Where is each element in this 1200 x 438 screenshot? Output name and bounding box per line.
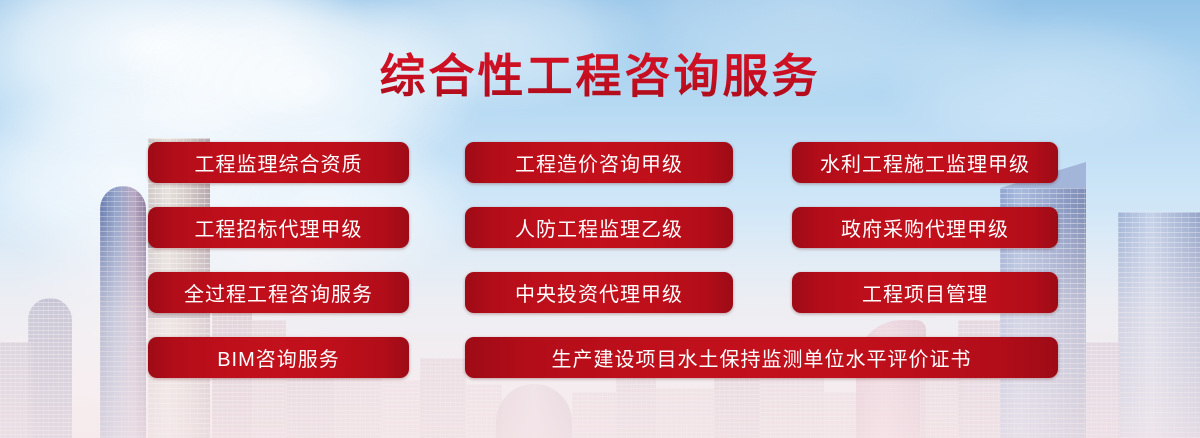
qualification-badge[interactable]: 人防工程监理乙级: [465, 207, 733, 248]
qualification-badge[interactable]: BIM咨询服务: [148, 337, 409, 378]
badge-row: 全过程工程咨询服务 中央投资代理甲级 工程项目管理: [0, 272, 1200, 337]
badge-row: 工程招标代理甲级 人防工程监理乙级 政府采购代理甲级: [0, 207, 1200, 272]
badge-row: BIM咨询服务 生产建设项目水土保持监测单位水平评价证书: [0, 337, 1200, 402]
qualification-badge[interactable]: 全过程工程咨询服务: [148, 272, 409, 313]
promo-banner: 综合性工程咨询服务 工程监理综合资质 工程造价咨询甲级 水利工程施工监理甲级 工…: [0, 0, 1200, 438]
qualification-badge[interactable]: 水利工程施工监理甲级: [792, 142, 1058, 183]
badge-row: 工程监理综合资质 工程造价咨询甲级 水利工程施工监理甲级: [0, 142, 1200, 207]
page-title: 综合性工程咨询服务: [0, 48, 1200, 104]
qualification-badge[interactable]: 工程造价咨询甲级: [465, 142, 733, 183]
qualification-badge[interactable]: 工程监理综合资质: [148, 142, 409, 183]
qualification-badge[interactable]: 中央投资代理甲级: [465, 272, 733, 313]
qualification-badge[interactable]: 工程招标代理甲级: [148, 207, 409, 248]
qualification-badge[interactable]: 工程项目管理: [792, 272, 1058, 313]
qualification-badge[interactable]: 生产建设项目水土保持监测单位水平评价证书: [465, 337, 1058, 378]
qualification-badge[interactable]: 政府采购代理甲级: [792, 207, 1058, 248]
qualification-badge-grid: 工程监理综合资质 工程造价咨询甲级 水利工程施工监理甲级 工程招标代理甲级 人防…: [0, 142, 1200, 402]
